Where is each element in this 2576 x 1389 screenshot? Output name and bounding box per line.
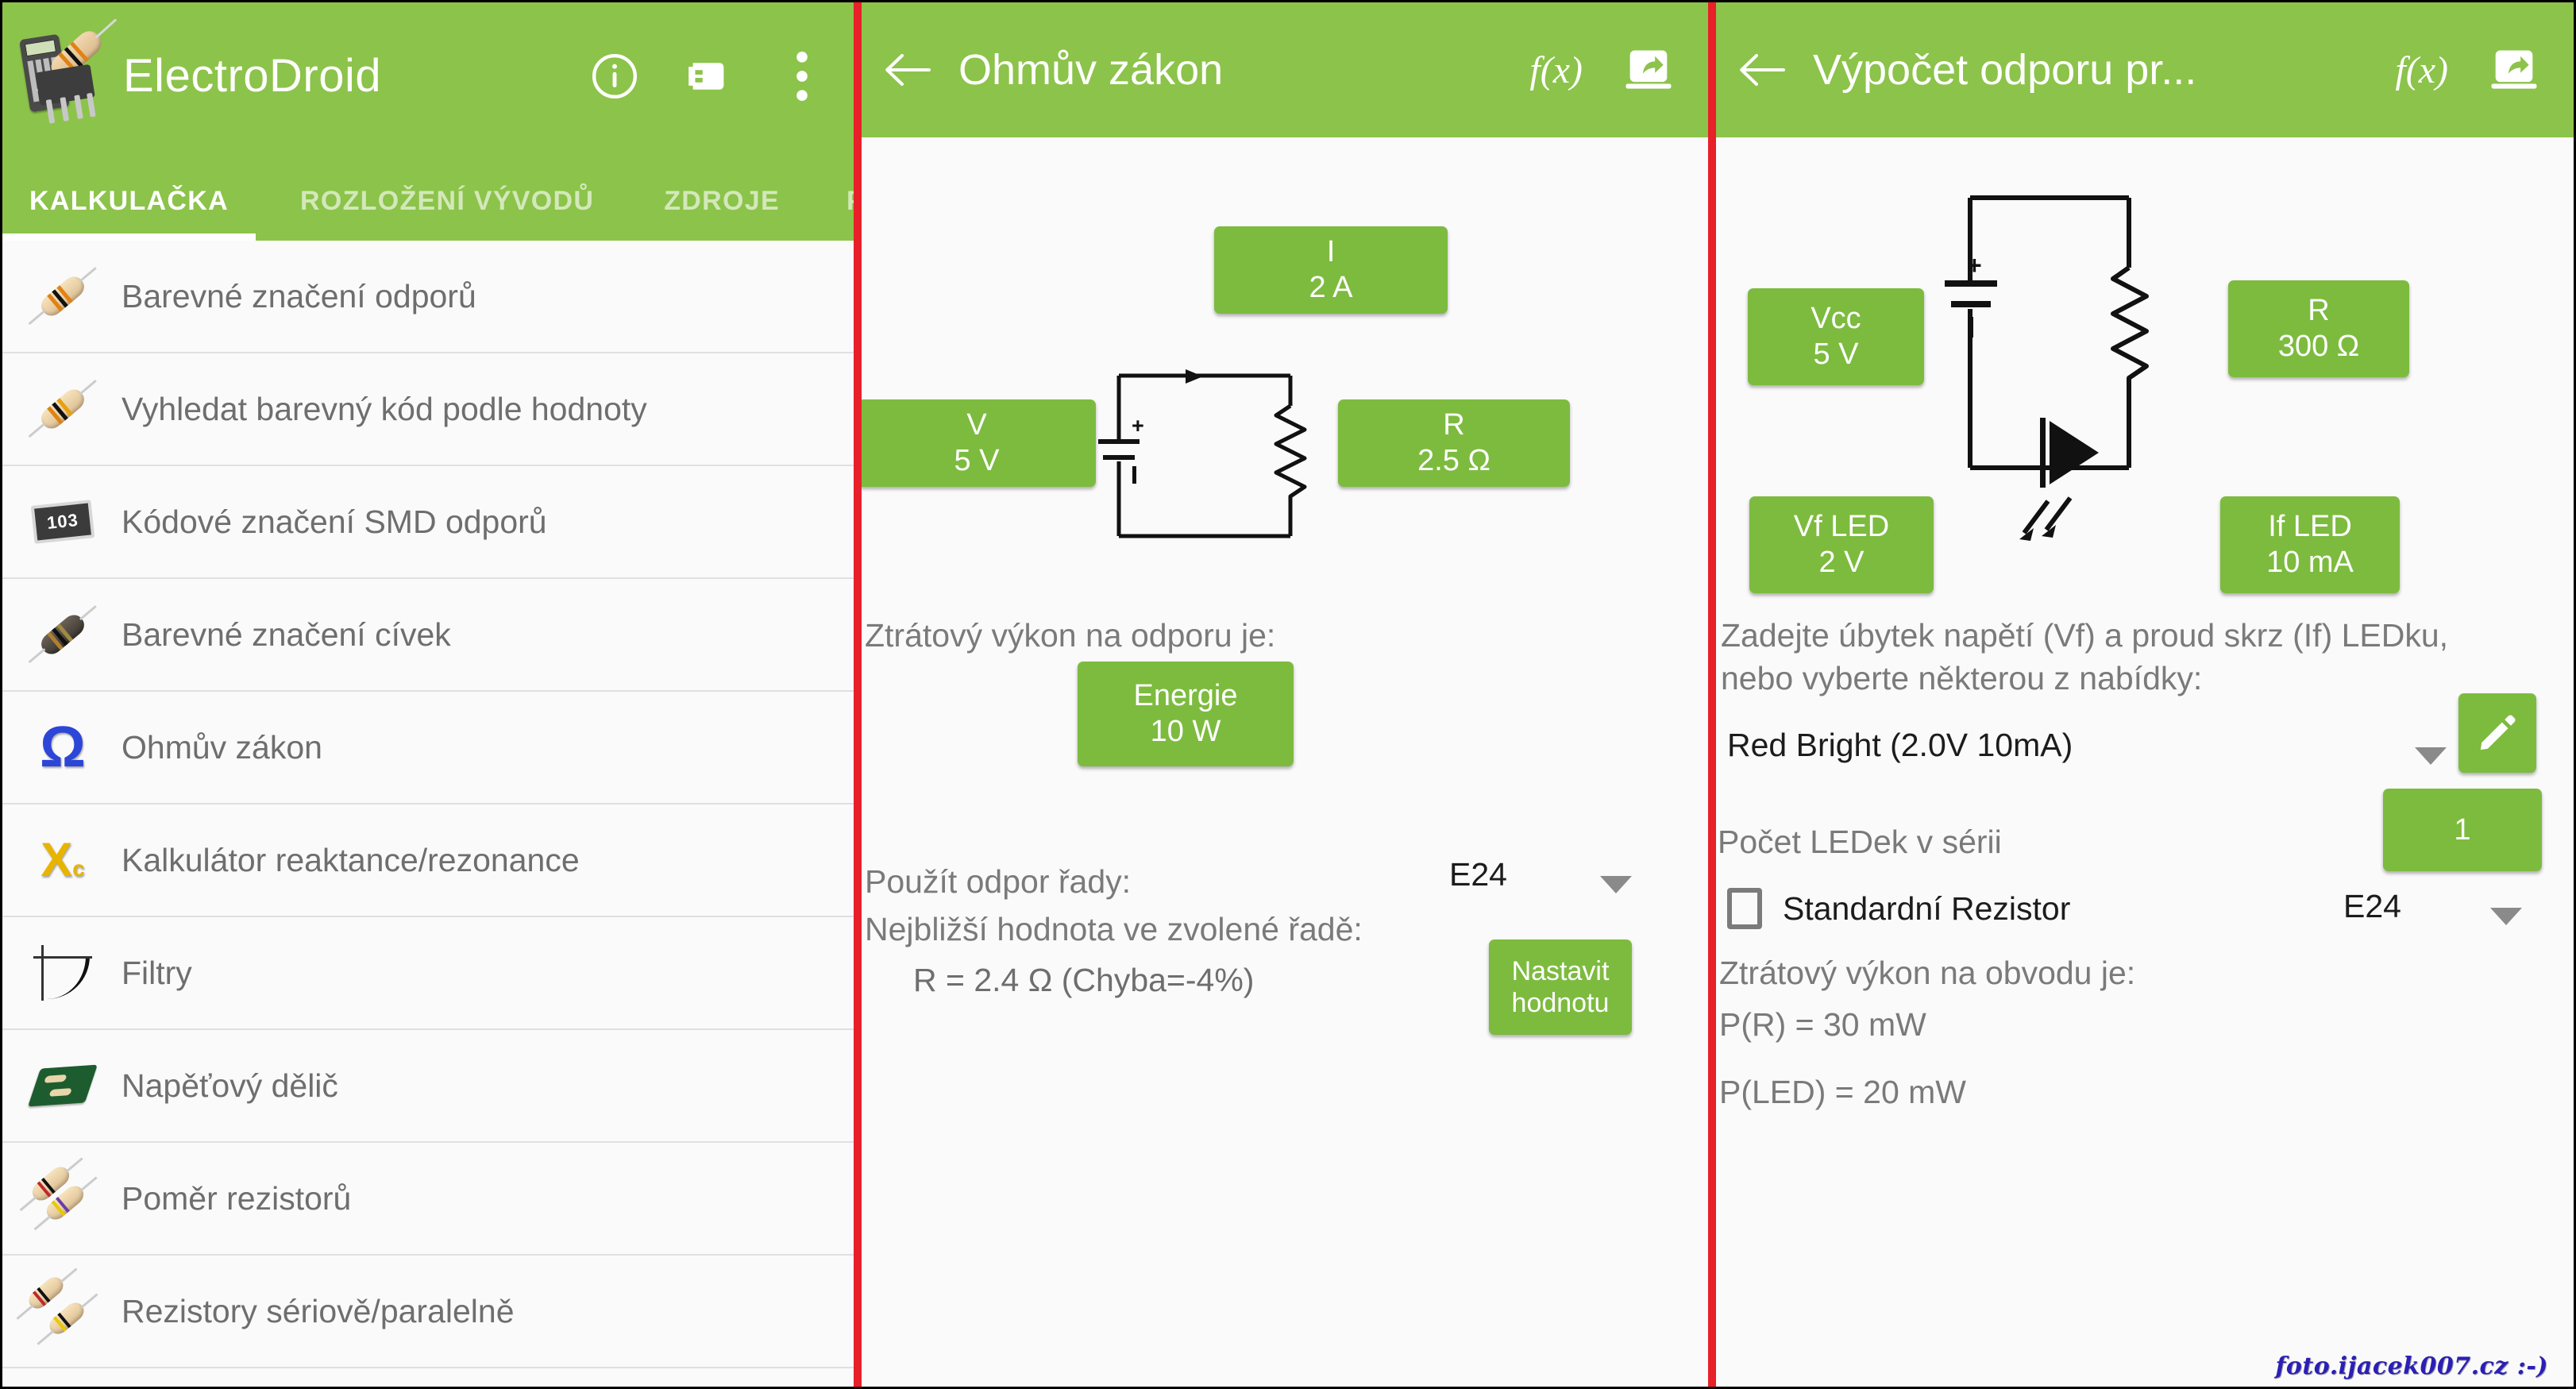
list-item-label: Ohmův zákon xyxy=(121,729,322,766)
list-item-label: Kódové značení SMD odporů xyxy=(121,504,547,541)
app-bar-actions xyxy=(588,50,836,102)
vcc-symbol: Vcc xyxy=(1811,301,1861,337)
list-item-label: Kalkulátor reaktance/rezonance xyxy=(121,842,580,879)
power-resistor-value: P(R) = 30 mW xyxy=(1719,1003,1926,1046)
nearest-value-label: Nejbližší hodnota ve zvolené řadě: xyxy=(865,908,1363,951)
right-app-bar-actions: f(x) xyxy=(2395,44,2553,96)
list-item-smd-odpory[interactable]: 103 Kódové značení SMD odporů xyxy=(2,466,854,579)
resistor-icon xyxy=(26,260,99,333)
page-title: Výpočet odporu pr... xyxy=(1813,45,2196,95)
list-item-pomer-rezistoru[interactable]: Poměr rezistorů xyxy=(2,1143,854,1256)
tab-bar: KALKULAČKA ROZLOŽENÍ VÝVODŮ ZDROJE PL xyxy=(2,149,854,241)
circuit-loss-label: Ztrátový výkon na obvodu je: xyxy=(1719,951,2135,994)
chevron-down-icon[interactable] xyxy=(1600,876,1632,893)
tab-zdroje[interactable]: ZDROJE xyxy=(664,186,780,241)
vcc-value: 5 V xyxy=(1813,337,1858,372)
standard-resistor-checkbox[interactable] xyxy=(1727,888,1762,929)
list-item-filtry[interactable]: Filtry xyxy=(2,917,854,1030)
screenshot-root: ElectroDroid xyxy=(0,0,2576,1389)
pencil-icon xyxy=(2476,712,2519,754)
if-led-button[interactable]: If LED 10 mA xyxy=(2220,496,2400,593)
set-value-line1: Nastavit xyxy=(1512,955,1610,987)
watermark: foto.ijacek007.cz :-) xyxy=(2275,1352,2548,1380)
reactance-icon: Xc xyxy=(26,824,99,897)
list-item-ohmuv-zakon[interactable]: Ω Ohmův zákon xyxy=(2,692,854,804)
list-item-napetovy-delic[interactable]: Napěťový dělič xyxy=(2,1030,854,1143)
resistor-network-icon xyxy=(26,1275,99,1348)
info-icon[interactable] xyxy=(588,50,641,102)
if-led-value: 10 mA xyxy=(2266,545,2354,581)
list-item-label: Napěťový dělič xyxy=(121,1067,338,1105)
resistor-symbol: R xyxy=(2308,293,2329,329)
tab-kalkulacka[interactable]: KALKULAČKA xyxy=(29,186,229,241)
svg-text:+: + xyxy=(1967,251,1982,280)
resistance-symbol: R xyxy=(1443,407,1464,443)
right-panel: Výpočet odporu pr... f(x) xyxy=(1716,2,2574,1387)
share-icon[interactable] xyxy=(1622,44,1675,96)
list-item-label: Barevné značení cívek xyxy=(121,616,451,654)
tab-rozlozeni-vyvodu[interactable]: ROZLOŽENÍ VÝVODŮ xyxy=(300,186,594,241)
tab-pl[interactable]: PL xyxy=(846,186,854,241)
voltage-symbol: V xyxy=(966,407,986,443)
voltage-value: 5 V xyxy=(954,443,999,479)
list-item-barevne-znaceni-odporu[interactable]: Barevné značení odporů xyxy=(2,241,854,353)
current-value: 2 A xyxy=(1309,270,1353,306)
overflow-menu-icon[interactable] xyxy=(776,50,828,102)
current-symbol: I xyxy=(1327,234,1336,270)
if-led-symbol: If LED xyxy=(2268,509,2352,545)
set-value-button[interactable]: Nastavit hodnotu xyxy=(1489,940,1632,1035)
import-export-icon[interactable] xyxy=(682,50,735,102)
set-value-line2: hodnotu xyxy=(1512,987,1610,1019)
series-value[interactable]: E24 xyxy=(1449,856,1507,893)
share-icon[interactable] xyxy=(2488,44,2540,96)
filter-curve-icon xyxy=(26,936,99,1009)
led-select[interactable]: Red Bright (2.0V 10mA) xyxy=(1727,727,2426,764)
vcc-button[interactable]: Vcc 5 V xyxy=(1748,288,1924,385)
series-label: Použít odpor řady: xyxy=(865,860,1131,903)
current-button[interactable]: I 2 A xyxy=(1214,226,1448,314)
resistor-icon xyxy=(26,372,99,446)
omega-icon: Ω xyxy=(26,711,99,784)
standard-resistor-label: Standardní Rezistor xyxy=(1783,890,2070,928)
list-item-rezistory-seriove-paralelne[interactable]: Rezistory sériově/paralelně xyxy=(2,1256,854,1368)
middle-panel: Ohmův zákon f(x) xyxy=(862,2,1708,1387)
list-item-label: Barevné značení odporů xyxy=(121,278,476,315)
power-led-value: P(LED) = 20 mW xyxy=(1719,1071,1966,1113)
chevron-down-icon[interactable] xyxy=(2490,908,2522,925)
calculator-list: Barevné značení odporů Vyhledat barevný … xyxy=(2,241,854,1368)
voltage-button[interactable]: V 5 V xyxy=(862,399,1096,487)
series-value[interactable]: E24 xyxy=(2343,888,2401,925)
list-item-label: Poměr rezistorů xyxy=(121,1180,351,1217)
nearest-value: R = 2.4 Ω (Chyba=-4%) xyxy=(913,962,1254,999)
two-resistors-icon xyxy=(26,1162,99,1235)
energy-symbol: Energie xyxy=(1134,678,1238,714)
vf-led-symbol: Vf LED xyxy=(1794,509,1889,545)
resistor-button[interactable]: R 300 Ω xyxy=(2228,280,2409,377)
resistor-value: 300 Ω xyxy=(2278,329,2359,365)
page-title: Ohmův zákon xyxy=(958,45,1223,95)
energy-button[interactable]: Energie 10 W xyxy=(1078,662,1294,766)
standard-resistor-row[interactable]: Standardní Rezistor xyxy=(1727,888,2070,929)
back-arrow-icon[interactable] xyxy=(1737,44,1789,96)
resistance-button[interactable]: R 2.5 Ω xyxy=(1338,399,1570,487)
led-count-label: Počet LEDek v sérii xyxy=(1718,820,2002,863)
chevron-down-icon[interactable] xyxy=(2415,747,2447,765)
led-resistor-circuit-diagram: + xyxy=(1930,185,2232,598)
list-item-barevne-znaceni-civek[interactable]: Barevné značení cívek xyxy=(2,579,854,692)
inductor-icon xyxy=(26,598,99,671)
electrodroid-logo-icon xyxy=(20,32,109,121)
resistance-value: 2.5 Ω xyxy=(1417,443,1490,479)
vf-led-button[interactable]: Vf LED 2 V xyxy=(1749,496,1934,593)
energy-value: 10 W xyxy=(1151,714,1221,750)
back-arrow-icon[interactable] xyxy=(882,44,935,96)
edit-led-button[interactable] xyxy=(2458,693,2536,773)
right-app-bar: Výpočet odporu pr... f(x) xyxy=(1716,2,2574,137)
fx-icon[interactable]: f(x) xyxy=(1529,48,1583,92)
mid-app-bar-actions: f(x) xyxy=(1529,44,1687,96)
list-item-label: Filtry xyxy=(121,955,192,992)
led-count-value[interactable]: 1 xyxy=(2383,789,2542,871)
list-item-reaktance-rezonance[interactable]: Xc Kalkulátor reaktance/rezonance xyxy=(2,804,854,917)
panel-divider-1 xyxy=(854,2,862,1387)
pcb-icon xyxy=(26,1049,99,1122)
left-panel: ElectroDroid xyxy=(2,2,854,1387)
list-item-label: Rezistory sériově/paralelně xyxy=(121,1293,515,1330)
mid-app-bar: Ohmův zákon f(x) xyxy=(862,2,1708,137)
smd-resistor-icon: 103 xyxy=(26,485,99,558)
power-loss-label: Ztrátový výkon na odporu je: xyxy=(865,614,1275,657)
vf-led-value: 2 V xyxy=(1818,545,1864,581)
panel-divider-2 xyxy=(1708,2,1716,1387)
app-bar: ElectroDroid xyxy=(2,2,854,149)
ohm-law-circuit-diagram: + xyxy=(1092,368,1346,550)
list-item-vyhledat-barevny-kod[interactable]: Vyhledat barevný kód podle hodnoty xyxy=(2,353,854,466)
smd-code: 103 xyxy=(31,500,95,544)
app-title: ElectroDroid xyxy=(123,49,381,102)
led-description: Zadejte úbytek napětí (Vf) a proud skrz … xyxy=(1721,614,2515,700)
svg-text:+: + xyxy=(1132,414,1144,438)
fx-icon[interactable]: f(x) xyxy=(2395,48,2448,92)
list-item-label: Vyhledat barevný kód podle hodnoty xyxy=(121,391,647,428)
